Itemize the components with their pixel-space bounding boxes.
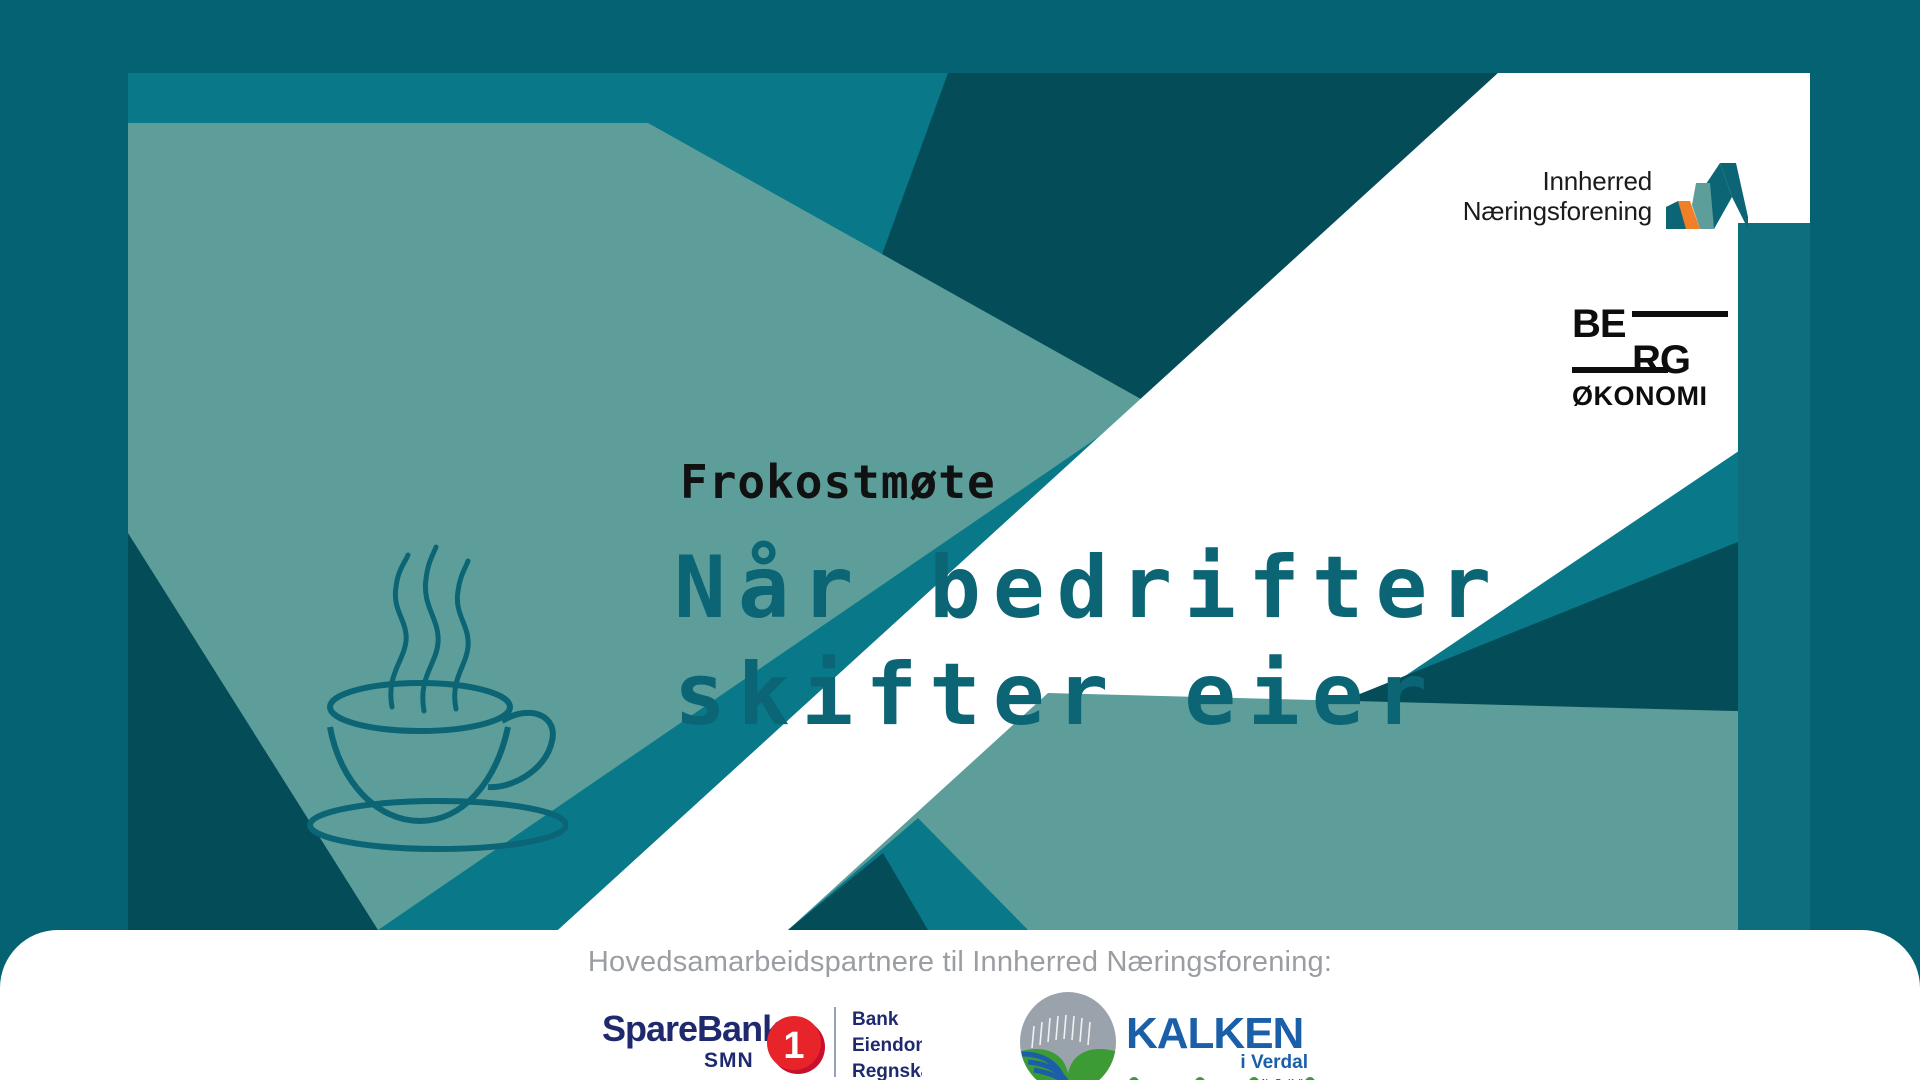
saucer — [310, 801, 566, 849]
sparebank-smn-text: SMN — [704, 1049, 754, 1072]
logo-sparebank1-smn: SpareBank SMN 1 Bank Eiendom Regnskap — [602, 1003, 922, 1080]
sparebank-service-0: Bank — [852, 1009, 899, 1030]
deco-shape-br-light2 — [788, 803, 1810, 930]
berg-rule-top — [1632, 311, 1728, 317]
cup-rim — [330, 683, 510, 731]
kicker-text: Frokostmøte — [680, 455, 996, 509]
headline-line-1: Når bedrifter — [674, 535, 1503, 642]
berg-rg-text: RG — [1632, 338, 1690, 382]
headline: Når bedrifter skifter eier — [674, 535, 1503, 748]
steam-wisp-center — [423, 547, 438, 711]
kalken-emblem — [1018, 992, 1118, 1080]
footer-logo-row: SpareBank SMN 1 Bank Eiendom Regnskap — [0, 992, 1920, 1080]
content-card: Innherred Næringsforening BE RG ØKONOMI — [128, 73, 1810, 930]
sparebank-wordmark: SpareBank — [602, 1008, 783, 1049]
headline-line-2: skifter eier — [674, 642, 1503, 749]
deco-right-band — [1738, 73, 1810, 930]
kalken-wordmark: KALKEN — [1126, 1009, 1303, 1058]
cup-handle — [488, 713, 553, 787]
deco-shape-br-mid2 — [788, 818, 1028, 930]
footer-partners-title: Hovedsamarbeidspartnere til Innherred Næ… — [0, 946, 1920, 979]
sparebank-one-text: 1 — [783, 1025, 804, 1067]
logo-innherred-naeringsforening: Innherred Næringsforening — [1463, 161, 1748, 231]
berg-be-text: BE — [1572, 302, 1626, 346]
berg-logo-mark: BE RG ØKONOMI — [1570, 301, 1738, 411]
innherred-chevron-icon — [1664, 161, 1748, 231]
coffee-cup-illustration — [296, 525, 568, 855]
sparebank-divider — [834, 1007, 836, 1077]
deco-right-band-top-clear — [1738, 73, 1810, 223]
footer-panel: Hovedsamarbeidspartnere til Innherred Næ… — [0, 930, 1920, 1080]
kalken-subtitle: i Verdal — [1240, 1052, 1308, 1073]
innherred-wordmark: Innherred Næringsforening — [1463, 166, 1652, 227]
logo-kalken-i-verdal: KALKEN i Verdal VERDAL KALKVERK VERDALSK… — [1018, 992, 1318, 1080]
berg-okonomi-text: ØKONOMI — [1572, 381, 1708, 411]
logo-berg-okonomi: BE RG ØKONOMI — [1570, 301, 1738, 416]
deco-shape-tl-light — [128, 123, 1148, 930]
sparebank-service-1: Eiendom — [852, 1035, 922, 1056]
innherred-line1: Innherred — [1463, 166, 1652, 196]
slide-root: Innherred Næringsforening BE RG ØKONOMI — [0, 0, 1920, 1080]
deco-shape-tl-dark — [828, 73, 1498, 403]
deco-shape-br-dark2 — [788, 853, 928, 930]
sparebank-service-2: Regnskap — [852, 1061, 922, 1080]
innherred-line2: Næringsforening — [1463, 196, 1652, 226]
